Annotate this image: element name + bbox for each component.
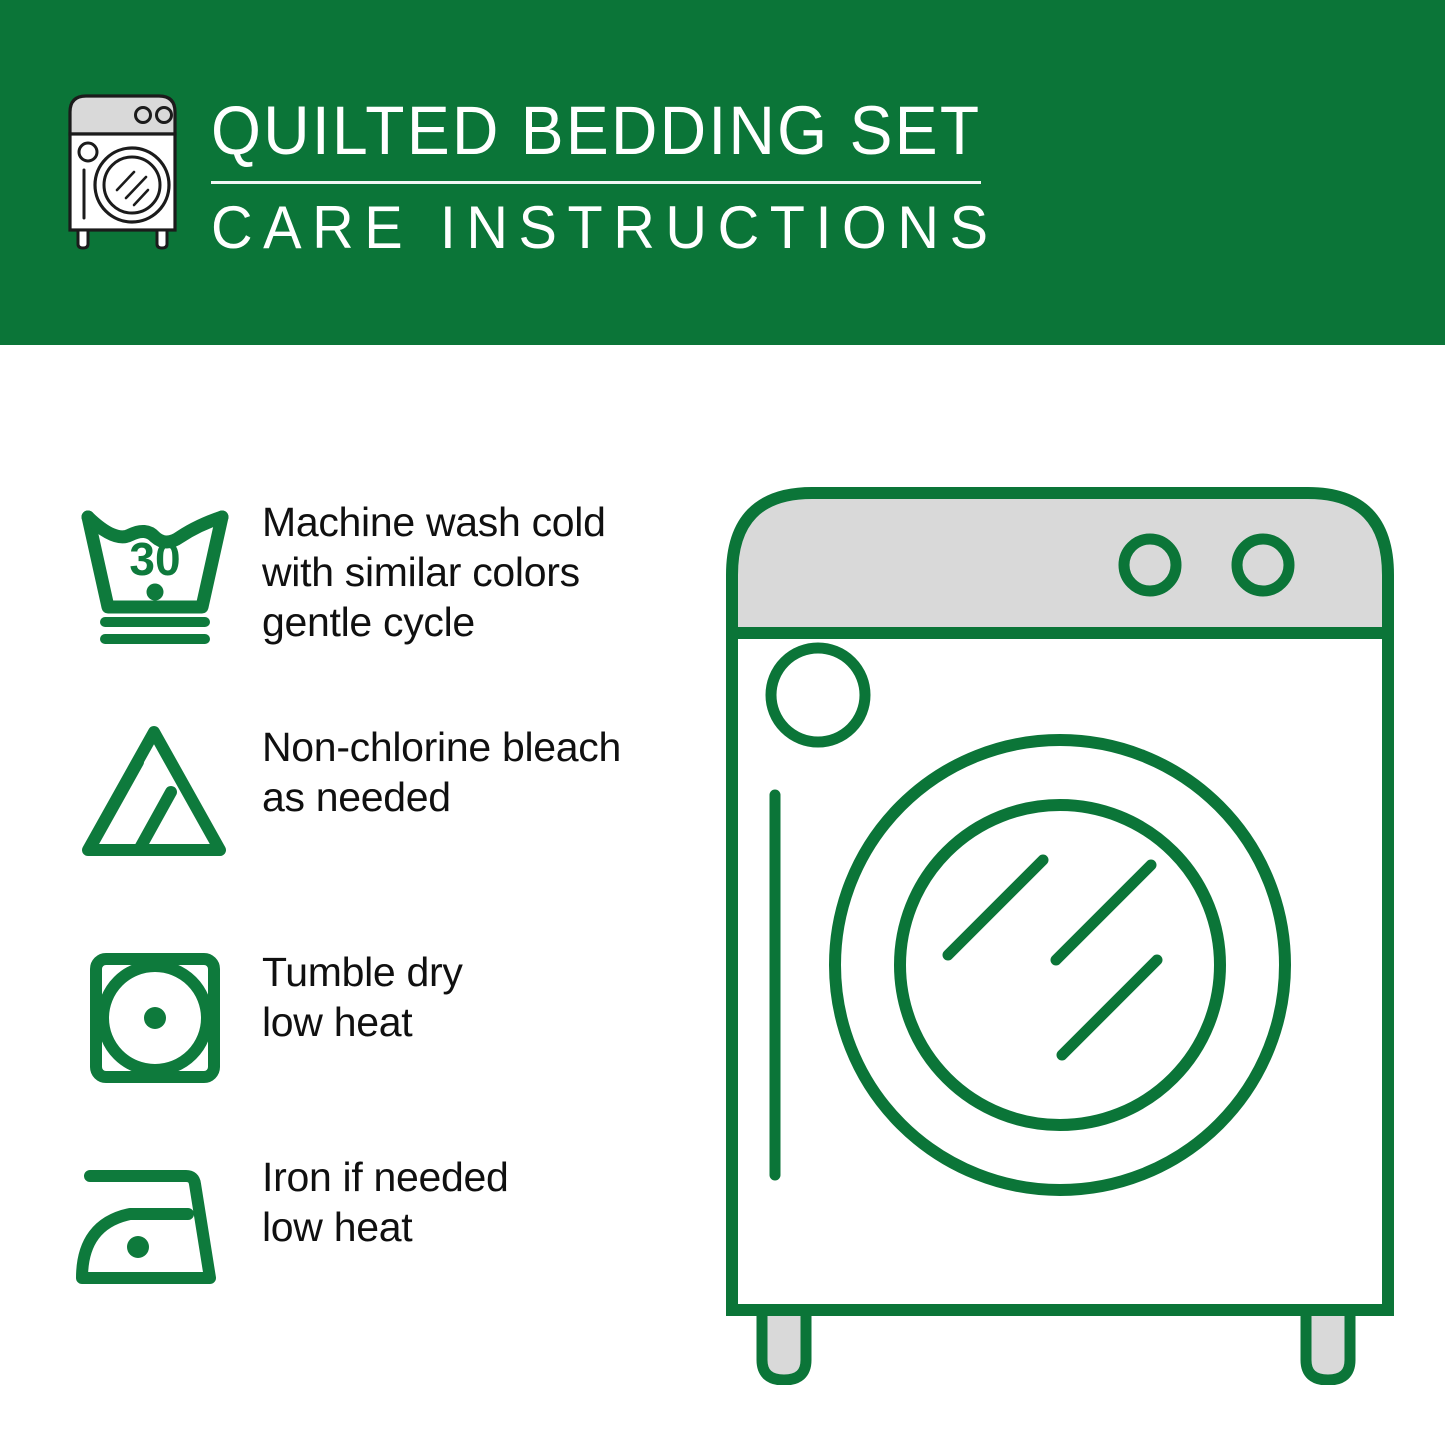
wash-tub-30-gentle-icon: 30 xyxy=(70,495,240,650)
care-row-iron: Iron if needed low heat xyxy=(70,1150,509,1295)
svg-text:30: 30 xyxy=(129,533,180,585)
page-subtitle: CARE INSTRUCTIONS xyxy=(211,198,1006,258)
header-content: QUILTED BEDDING SET CARE INSTRUCTIONS xyxy=(60,90,1039,258)
front-load-washing-machine-illustration xyxy=(700,455,1420,1385)
non-chlorine-bleach-triangle-icon xyxy=(70,720,240,865)
care-row-label: Machine wash cold with similar colors ge… xyxy=(262,495,606,647)
care-instructions-page: QUILTED BEDDING SET CARE INSTRUCTIONS 30 xyxy=(0,0,1445,1445)
iron-low-heat-icon xyxy=(70,1150,240,1295)
care-row-label: Iron if needed low heat xyxy=(262,1150,509,1252)
header-banner: QUILTED BEDDING SET CARE INSTRUCTIONS xyxy=(0,0,1445,345)
header-titles: QUILTED BEDDING SET CARE INSTRUCTIONS xyxy=(211,90,1039,258)
care-row-tumble-dry: Tumble dry low heat xyxy=(70,945,463,1090)
tumble-dry-low-heat-icon xyxy=(70,945,240,1090)
washing-machine-icon xyxy=(60,90,185,250)
page-title: QUILTED BEDDING SET xyxy=(211,96,981,165)
care-row-machine-wash: 30 Machine wash cold with similar colors… xyxy=(70,495,606,650)
care-row-label: Non-chlorine bleach as needed xyxy=(262,720,621,822)
title-divider xyxy=(211,181,981,184)
care-row-bleach: Non-chlorine bleach as needed xyxy=(70,720,621,865)
care-instruction-list: 30 Machine wash cold with similar colors… xyxy=(0,345,700,1445)
care-row-label: Tumble dry low heat xyxy=(262,945,463,1047)
